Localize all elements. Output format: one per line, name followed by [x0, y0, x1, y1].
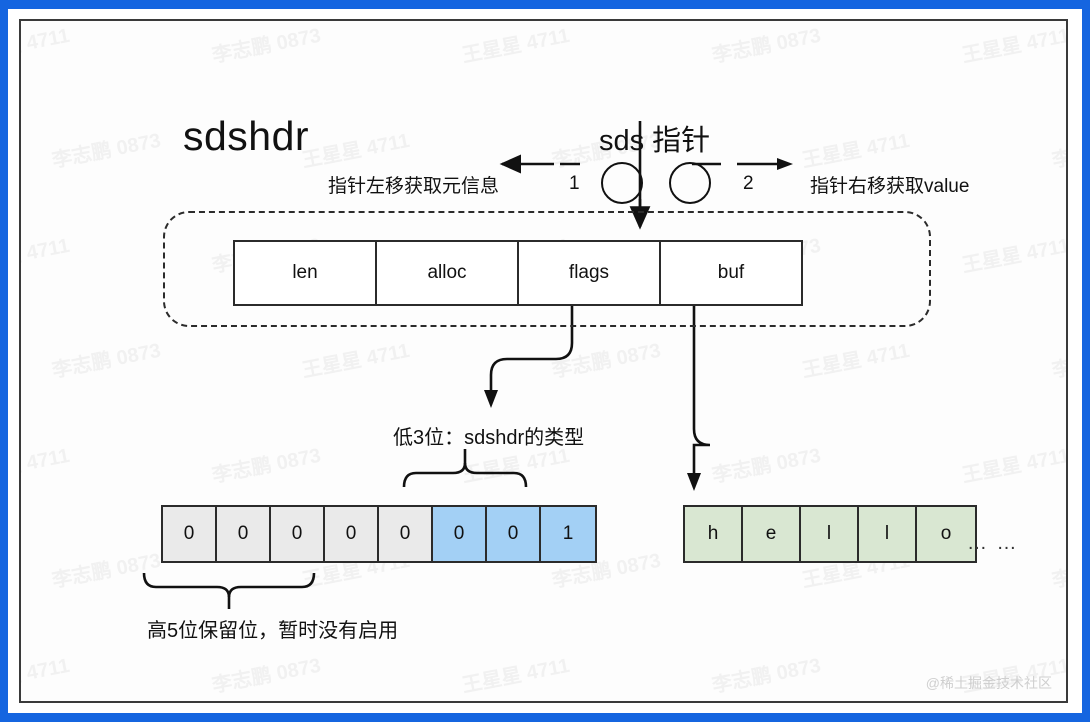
watermark-text: 王星星 4711 — [299, 124, 411, 173]
flags-bit-array: 00000001 — [161, 505, 597, 563]
flag-bit-7: 1 — [541, 507, 595, 561]
struct-field-buf: buf — [661, 242, 801, 304]
page-title-sds-pointer: sds 指针 — [599, 117, 710, 159]
flag-bit-4: 0 — [379, 507, 433, 561]
watermark-text: 王星星 4711 — [19, 19, 72, 68]
watermark-text: 李志鹏 0873 — [49, 124, 163, 173]
left-shift-label: 指针左移获取元信息 — [328, 171, 499, 198]
buffer-char-1: e — [743, 507, 801, 561]
buffer-char-array: hello — [683, 505, 977, 563]
buffer-char-2: l — [801, 507, 859, 561]
flag-bit-1: 0 — [217, 507, 271, 561]
flag-bit-5: 0 — [433, 507, 487, 561]
connector-overlay — [21, 21, 1068, 703]
watermark-text: 王星星 4711 — [959, 439, 1068, 488]
watermark-text: 王星星 4711 — [799, 124, 911, 173]
sdshdr-struct-fields: len alloc flags buf — [233, 240, 803, 306]
page-title-sdshdr: sdshdr — [183, 113, 309, 160]
buffer-ellipsis: … … — [967, 532, 1019, 555]
watermark-text: 李志鹏 0873 — [709, 19, 823, 68]
watermark-text: 李志鹏 0873 — [1049, 124, 1068, 173]
watermark-text: 王星星 4711 — [299, 334, 411, 383]
circle-marker-1 — [601, 162, 643, 204]
watermark-text: 王星星 4711 — [19, 649, 72, 698]
circle-marker-2 — [669, 162, 711, 204]
watermark-text: 李志鹏 0873 — [1049, 334, 1068, 383]
watermark-text: 王星星 4711 — [959, 19, 1068, 68]
low-3-bits-label: 低3位：sdshdr的类型 — [393, 421, 584, 450]
watermark-text: 李志鹏 0873 — [209, 439, 323, 488]
watermark-text: 王星星 4711 — [959, 229, 1068, 278]
watermark-text: 李志鹏 0873 — [209, 19, 323, 68]
flag-bit-3: 0 — [325, 507, 379, 561]
high5-brace — [144, 573, 314, 609]
low3-brace — [404, 449, 526, 487]
watermark-text: 王星星 4711 — [459, 19, 571, 68]
flag-bit-2: 0 — [271, 507, 325, 561]
high-5-bits-label: 高5位保留位，暂时没有启用 — [147, 614, 398, 643]
watermark-text: 王星星 4711 — [19, 439, 72, 488]
watermark-text: 李志鹏 0873 — [209, 649, 323, 698]
diagram-canvas: 王星星 4711李志鹏 0873王星星 4711李志鹏 0873王星星 4711… — [19, 19, 1068, 703]
watermark-text: 王星星 4711 — [799, 334, 911, 383]
flag-bit-6: 0 — [487, 507, 541, 561]
watermark-text: 李志鹏 0873 — [709, 649, 823, 698]
left-shift-arrow — [502, 158, 580, 170]
watermark-text: 李志鹏 0873 — [49, 544, 163, 593]
arrow-number-1: 1 — [569, 173, 580, 195]
right-shift-label: 指针右移获取value — [810, 171, 969, 198]
watermark-text: 王星星 4711 — [19, 229, 72, 278]
struct-field-len: len — [235, 242, 377, 304]
credit-watermark: @稀土掘金技术社区 — [926, 673, 1052, 693]
buffer-char-3: l — [859, 507, 917, 561]
right-shift-arrow — [692, 158, 793, 170]
struct-field-flags: flags — [519, 242, 661, 304]
watermark-text: 李志鹏 0873 — [1049, 544, 1068, 593]
watermark-text: 李志鹏 0873 — [549, 334, 663, 383]
watermark-text: 王星星 4711 — [459, 649, 571, 698]
struct-field-alloc: alloc — [377, 242, 519, 304]
watermark-text: 李志鹏 0873 — [709, 439, 823, 488]
arrow-number-2: 2 — [743, 173, 754, 195]
watermark-text: 李志鹏 0873 — [49, 334, 163, 383]
flag-bit-0: 0 — [163, 507, 217, 561]
buffer-char-0: h — [685, 507, 743, 561]
